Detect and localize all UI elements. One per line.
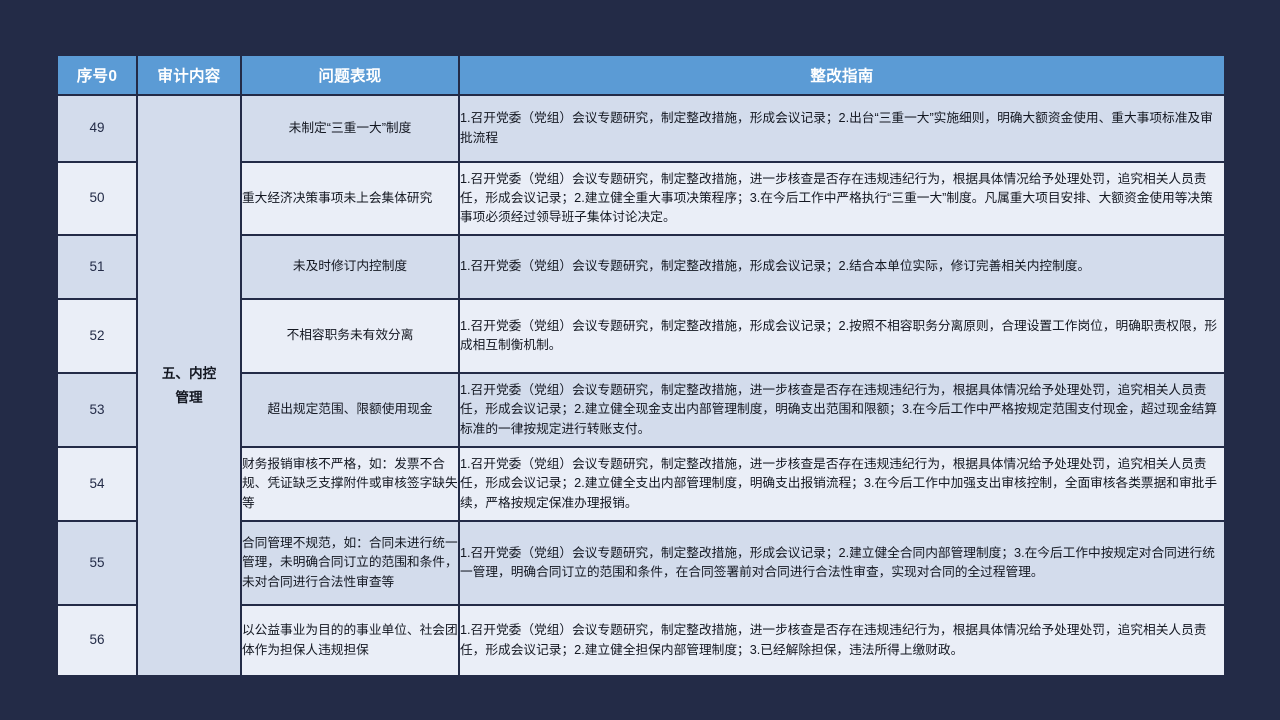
cell-problem: 未及时修订内控制度 — [242, 236, 458, 298]
cell-guidance: 1.召开党委（党组）会议专题研究，制定整改措施，进一步核查是否存在违规违纪行为，… — [460, 374, 1224, 446]
cell-problem: 超出规定范围、限额使用现金 — [242, 374, 458, 446]
cell-sequence: 50 — [58, 163, 136, 234]
cell-sequence: 49 — [58, 96, 136, 161]
slide-canvas: 序号0 审计内容 问题表现 整改指南 49 五、内控 管理 未制定“三重一大”制… — [0, 0, 1280, 720]
column-header-guidance: 整改指南 — [460, 56, 1224, 94]
cell-guidance: 1.召开党委（党组）会议专题研究，制定整改措施，形成会议记录；2.结合本单位实际… — [460, 236, 1224, 298]
cell-sequence: 55 — [58, 522, 136, 604]
column-header-sequence: 序号0 — [58, 56, 136, 94]
audit-category-line-1: 五、内控 — [138, 362, 240, 385]
cell-guidance: 1.召开党委（党组）会议专题研究，制定整改措施，形成会议记录；2.出台“三重一大… — [460, 96, 1224, 161]
audit-table-container: 序号0 审计内容 问题表现 整改指南 49 五、内控 管理 未制定“三重一大”制… — [56, 54, 1222, 665]
cell-guidance: 1.召开党委（党组）会议专题研究，制定整改措施，进一步核查是否存在违规违纪行为，… — [460, 448, 1224, 520]
cell-problem: 未制定“三重一大”制度 — [242, 96, 458, 161]
audit-rectification-table: 序号0 审计内容 问题表现 整改指南 49 五、内控 管理 未制定“三重一大”制… — [56, 54, 1226, 677]
cell-problem: 以公益事业为目的的事业单位、社会团体作为担保人违规担保 — [242, 606, 458, 675]
cell-guidance: 1.召开党委（党组）会议专题研究，制定整改措施，进一步核查是否存在违规违纪行为，… — [460, 163, 1224, 234]
cell-sequence: 56 — [58, 606, 136, 675]
cell-guidance: 1.召开党委（党组）会议专题研究，制定整改措施，形成会议记录；2.建立健全合同内… — [460, 522, 1224, 604]
cell-problem: 财务报销审核不严格，如：发票不合规、凭证缺乏支撑附件或审核签字缺失等 — [242, 448, 458, 520]
table-header: 序号0 审计内容 问题表现 整改指南 — [58, 56, 1224, 94]
cell-audit-content-merged: 五、内控 管理 — [138, 96, 240, 675]
audit-category-line-2: 管理 — [138, 386, 240, 409]
table-header-row: 序号0 审计内容 问题表现 整改指南 — [58, 56, 1224, 94]
table-row: 49 五、内控 管理 未制定“三重一大”制度 1.召开党委（党组）会议专题研究，… — [58, 96, 1224, 161]
cell-problem: 合同管理不规范，如：合同未进行统一管理，未明确合同订立的范围和条件，未对合同进行… — [242, 522, 458, 604]
column-header-problem: 问题表现 — [242, 56, 458, 94]
cell-guidance: 1.召开党委（党组）会议专题研究，制定整改措施，形成会议记录；2.按照不相容职务… — [460, 300, 1224, 372]
cell-sequence: 52 — [58, 300, 136, 372]
column-header-audit-content: 审计内容 — [138, 56, 240, 94]
cell-sequence: 54 — [58, 448, 136, 520]
cell-problem: 重大经济决策事项未上会集体研究 — [242, 163, 458, 234]
cell-problem: 不相容职务未有效分离 — [242, 300, 458, 372]
cell-guidance: 1.召开党委（党组）会议专题研究，制定整改措施，进一步核查是否存在违规违纪行为，… — [460, 606, 1224, 675]
cell-sequence: 51 — [58, 236, 136, 298]
cell-sequence: 53 — [58, 374, 136, 446]
table-body: 49 五、内控 管理 未制定“三重一大”制度 1.召开党委（党组）会议专题研究，… — [58, 96, 1224, 675]
